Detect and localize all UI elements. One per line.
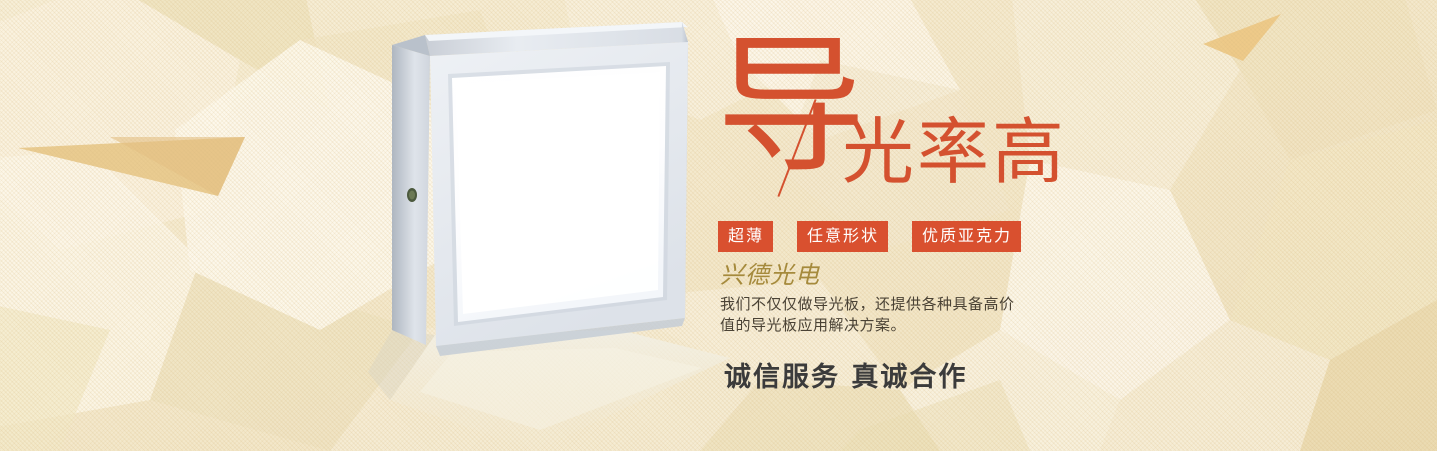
feature-badge-any-shape[interactable]: 任意形状 [797, 221, 888, 252]
promo-banner: 导 光率高 超薄 任意形状 优质亚克力 兴德光电 我们不仅仅做导光板，还提供各种… [0, 0, 1437, 451]
headline-sub-chars: 光率高 [842, 116, 1067, 188]
body-description: 我们不仅仅做导光板，还提供各种具备高价值的导光板应用解决方案。 [720, 294, 1020, 336]
feature-badge-list: 超薄 任意形状 优质亚克力 [718, 221, 1021, 252]
headline: 导 光率高 [708, 48, 1128, 208]
led-panel-light-image [330, 0, 760, 451]
feature-badge-premium-acrylic[interactable]: 优质亚克力 [912, 221, 1021, 252]
slogan: 诚信服务 真诚合作 [724, 355, 967, 394]
feature-badge-ultrathin[interactable]: 超薄 [718, 221, 773, 252]
copy-block: 导 光率高 超薄 任意形状 优质亚克力 兴德光电 我们不仅仅做导光板，还提供各种… [708, 0, 1268, 451]
brand-name: 兴德光电 [720, 261, 820, 290]
